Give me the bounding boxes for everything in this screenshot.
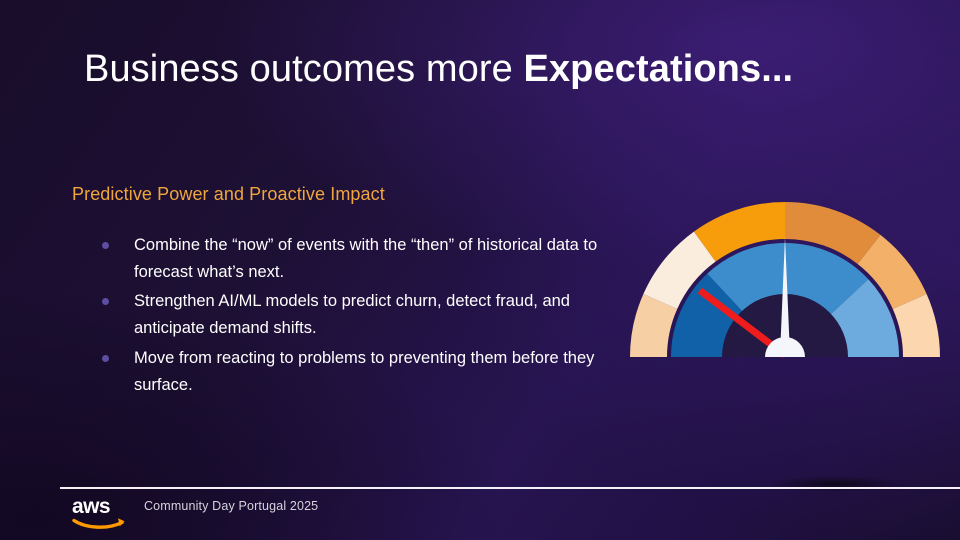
gauge-svg — [620, 192, 950, 372]
list-item: Strengthen AI/ML models to predict churn… — [96, 288, 616, 341]
bullet-dot-icon — [102, 298, 109, 305]
aws-swoosh-icon — [74, 521, 122, 528]
page-title: Business outcomes more Expectations... — [84, 48, 793, 92]
section-subhead: Predictive Power and Proactive Impact — [72, 184, 385, 205]
aws-logo-svg: aws — [72, 496, 134, 530]
bullet-dot-icon — [102, 242, 109, 249]
footer-shadow-glow — [770, 476, 900, 492]
list-item: Move from reacting to problems to preven… — [96, 345, 616, 398]
slide-canvas: Business outcomes more Expectations... P… — [0, 0, 960, 540]
list-item-text: Strengthen AI/ML models to predict churn… — [134, 292, 570, 337]
bullet-list: Combine the “now” of events with the “th… — [96, 232, 616, 401]
gauge-chart — [620, 192, 950, 372]
aws-logo: aws — [72, 496, 134, 530]
list-item-text: Combine the “now” of events with the “th… — [134, 236, 597, 281]
list-item: Combine the “now” of events with the “th… — [96, 232, 616, 285]
list-item-text: Move from reacting to problems to preven… — [134, 349, 594, 394]
bullet-dot-icon — [102, 355, 109, 362]
aws-logo-wordmark: aws — [72, 496, 110, 518]
title-bold-text: Expectations... — [524, 48, 794, 90]
title-light-text: Business outcomes more — [84, 48, 524, 90]
footer-divider — [60, 487, 960, 489]
footer-event-label: Community Day Portugal 2025 — [144, 499, 318, 513]
